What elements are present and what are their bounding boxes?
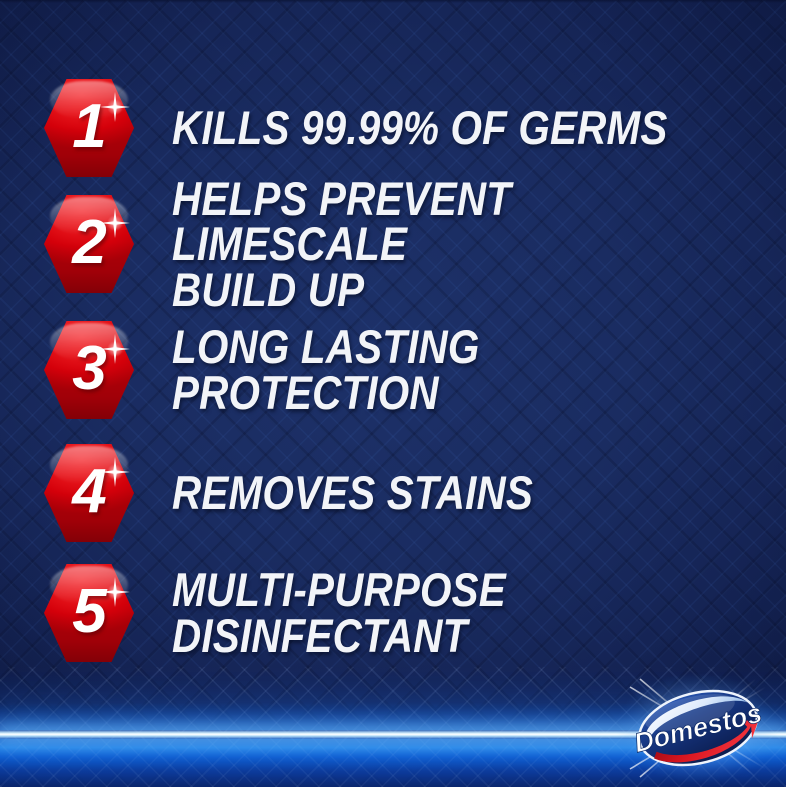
brand-logo: Domestos xyxy=(616,673,780,783)
benefit-label: HELPS PREVENT LIMESCALE BUILD UP xyxy=(172,176,690,313)
benefit-label: LONG LASTING PROTECTION xyxy=(172,324,690,415)
benefit-item: 4 REMOVES STAINS xyxy=(44,443,774,543)
badge-number: 3 xyxy=(44,320,134,420)
badge-number: 1 xyxy=(44,78,134,178)
benefits-list: 1 KILLS 99.99% OF GERMS xyxy=(0,0,786,690)
benefit-item: 3 LONG LASTING PROTECTION xyxy=(44,320,774,420)
number-badge: 2 xyxy=(44,194,134,294)
benefit-label: MULTI-PURPOSE DISINFECTANT xyxy=(172,567,690,658)
benefit-label: REMOVES STAINS xyxy=(172,470,533,516)
benefit-item: 1 KILLS 99.99% OF GERMS xyxy=(44,78,774,178)
benefit-label: KILLS 99.99% OF GERMS xyxy=(172,105,668,151)
number-badge: 5 xyxy=(44,563,134,663)
badge-number: 4 xyxy=(44,443,134,543)
benefit-item: 5 MULTI-PURPOSE DISINFECTANT xyxy=(44,563,774,663)
badge-number: 2 xyxy=(44,194,134,294)
number-badge: 3 xyxy=(44,320,134,420)
benefit-item: 2 HELPS PREVENT LIMESCALE BUILD UP xyxy=(44,194,774,294)
poster-canvas: 1 KILLS 99.99% OF GERMS xyxy=(0,0,786,787)
number-badge: 4 xyxy=(44,443,134,543)
logo-oval-mark: Domestos xyxy=(624,681,772,775)
badge-number: 5 xyxy=(44,563,134,663)
number-badge: 1 xyxy=(44,78,134,178)
